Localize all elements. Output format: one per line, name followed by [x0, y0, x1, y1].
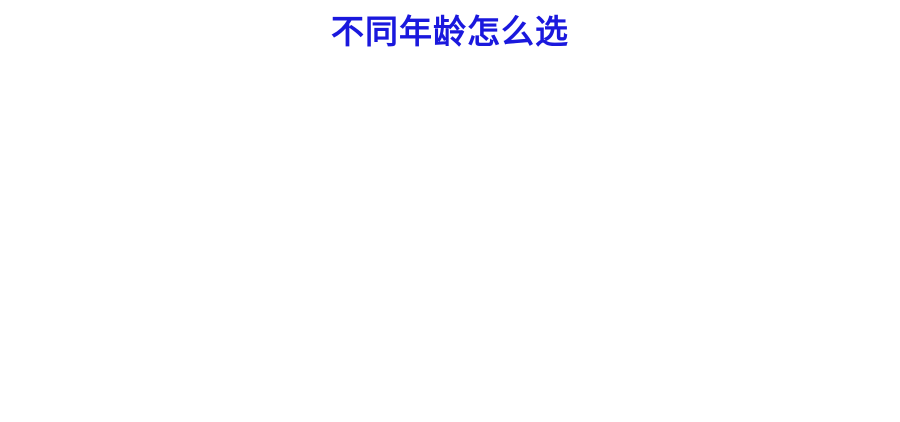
card-age-range-python: 8-13岁 [482, 370, 526, 391]
card-age-range-appinventor: 7-12岁 [254, 370, 298, 391]
course-card-cpp[interactable]: </> C++ 高阶信息学竞赛常用语言 / 适合 11-16岁 [689, 128, 895, 402]
robot-illustration: APP [318, 262, 428, 401]
svg-text:APP: APP [363, 365, 382, 375]
python-logo-illustration [553, 266, 665, 391]
card-subtitle-cpp: 高阶信息学竞赛常用语言 [710, 200, 848, 219]
card-divider-python: / [482, 308, 487, 328]
course-card-python[interactable]: Python 人工智能时代的智慧语言 / 适合 8-13岁 [461, 128, 666, 402]
decor-dot-appinventor [295, 316, 315, 336]
age-selection-page: 不同年龄怎么选 [0, 0, 900, 422]
card-fit-label-cpp: 适合 [710, 346, 739, 367]
card-title-scratch: Scratch [19, 260, 100, 286]
card-title-python: Python [482, 159, 557, 185]
card-subtitle-appinventor: 孩子的手机应用编写神器 [254, 200, 392, 219]
card-title-appinventor: APP Inventor [254, 159, 392, 185]
laptop-code-illustration: </> [773, 268, 893, 398]
card-divider-appinventor: / [254, 308, 259, 328]
course-card-list: Scratch 像搭积木一样学编程 / 适合 6-11岁 [0, 0, 900, 422]
course-card-appinventor[interactable]: APP APP Inventor 孩子的手机应用编写神器 / 适合 7-12岁 [233, 124, 437, 401]
card-subtitle-scratch: 像搭积木一样学编程 [19, 300, 132, 319]
card-divider-cpp: / [710, 308, 715, 328]
card-age-range-cpp: 11-16岁 [710, 370, 761, 391]
course-card-scratch[interactable]: Scratch 像搭积木一样学编程 / 适合 6-11岁 [0, 118, 209, 401]
card-fit-label-appinventor: 适合 [254, 346, 283, 367]
card-fit-label-python: 适合 [482, 346, 511, 367]
card-title-cpp: C++ [710, 159, 752, 185]
card-subtitle-python: 人工智能时代的智慧语言 [482, 200, 620, 219]
